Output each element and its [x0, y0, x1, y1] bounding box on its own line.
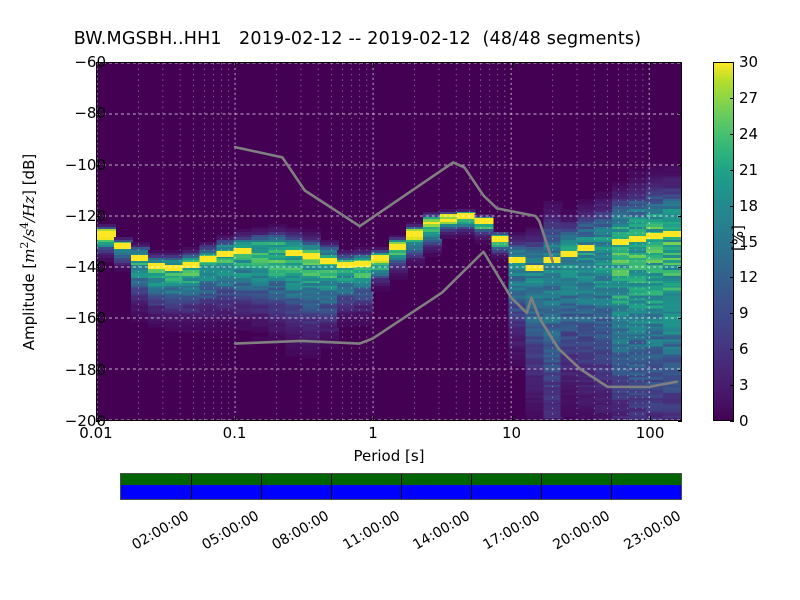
coverage-divider — [401, 474, 402, 499]
colorbar-tick-label: 6 — [739, 340, 749, 358]
time-axis-tick-label: 14:00:00 — [410, 508, 472, 553]
colorbar-tick — [730, 242, 734, 243]
y-axis-title: Amplitude [m2/s4/Hz] [dB] — [18, 0, 38, 512]
colorbar-tick — [730, 62, 734, 63]
y-axis-tick-label: −80 — [74, 104, 106, 122]
y-axis-tick — [678, 421, 682, 422]
y-axis-tick — [96, 216, 100, 217]
colorbar-tick-label: 30 — [739, 53, 758, 71]
x-axis-tick-label: 100 — [636, 424, 665, 442]
x-axis-tick — [96, 416, 97, 421]
x-axis-tick — [96, 62, 97, 67]
coverage-divider — [471, 474, 472, 499]
y-unit-num: m — [20, 248, 38, 262]
coverage-divider — [191, 474, 192, 499]
y-axis-tick — [678, 267, 682, 268]
colorbar-tick — [730, 277, 734, 278]
colorbar-tick-label: 18 — [739, 197, 758, 215]
y-axis-tick — [678, 165, 682, 166]
plot-area[interactable] — [96, 62, 682, 421]
y-axis-tick — [96, 318, 100, 319]
y-axis-tick — [678, 318, 682, 319]
colorbar-tick-label: 15 — [739, 233, 758, 251]
y-axis-title-prefix: Amplitude [ — [20, 263, 38, 351]
x-axis-tick — [235, 416, 236, 421]
colorbar-tick-label: 12 — [739, 268, 758, 286]
x-axis-tick — [235, 62, 236, 67]
x-axis-tick — [373, 416, 374, 421]
colorbar-tick — [730, 206, 734, 207]
y-axis-tick — [96, 267, 100, 268]
y-unit-hz: /Hz — [20, 196, 38, 222]
noise-model-lines — [97, 63, 681, 420]
y-axis-tick-label: −60 — [74, 53, 106, 71]
y-axis-tick — [678, 216, 682, 217]
y-axis-tick — [96, 421, 100, 422]
colorbar-tick — [730, 98, 734, 99]
coverage-divider — [611, 474, 612, 499]
x-axis-tick-label: 10 — [502, 424, 521, 442]
x-axis-tick — [512, 416, 513, 421]
ppsd-figure: BW.MGSBH..HH1 2019-02-12 -- 2019-02-12 (… — [0, 0, 800, 600]
x-axis-tick — [650, 62, 651, 67]
colorbar-tick — [730, 385, 734, 386]
x-axis-tick — [650, 416, 651, 421]
time-axis-tick-label: 02:00:00 — [129, 508, 191, 553]
y-axis-tick — [96, 165, 100, 166]
time-axis-tick-label: 17:00:00 — [481, 508, 543, 553]
colorbar-tick-label: 24 — [739, 125, 758, 143]
colorbar-tick — [730, 349, 734, 350]
x-axis-title: Period [s] — [96, 447, 682, 465]
x-axis-tick — [512, 62, 513, 67]
coverage-divider — [331, 474, 332, 499]
y-axis-tick — [678, 62, 682, 63]
time-axis-tick-label: 20:00:00 — [551, 508, 613, 553]
colorbar-tick-label: 0 — [739, 412, 749, 430]
x-axis-tick — [373, 62, 374, 67]
page-title: BW.MGSBH..HH1 2019-02-12 -- 2019-02-12 (… — [0, 29, 715, 49]
y-unit-den-exp: 4 — [18, 222, 31, 229]
y-axis-title-suffix: ] [dB] — [20, 154, 38, 196]
x-axis-tick-label: 0.01 — [79, 424, 112, 442]
time-axis-tick-label: 08:00:00 — [270, 508, 332, 553]
time-axis-tick-label: 11:00:00 — [340, 508, 402, 553]
coverage-divider — [261, 474, 262, 499]
x-axis-tick-label: 0.1 — [223, 424, 247, 442]
colorbar-tick-label: 21 — [739, 161, 758, 179]
y-axis-tick — [96, 113, 100, 114]
data-coverage-bar[interactable] — [120, 473, 682, 500]
time-axis-tick-label: 05:00:00 — [200, 508, 262, 553]
colorbar-tick — [730, 170, 734, 171]
colorbar-tick-label: 27 — [739, 89, 758, 107]
colorbar-tick — [730, 421, 734, 422]
y-axis-tick — [678, 113, 682, 114]
colorbar-tick — [730, 134, 734, 135]
y-unit-den: s — [20, 229, 38, 237]
y-axis-tick — [96, 370, 100, 371]
colorbar-tick-label: 9 — [739, 304, 749, 322]
time-axis-tick-label: 23:00:00 — [621, 508, 683, 553]
coverage-divider — [541, 474, 542, 499]
y-unit-num-exp: 2 — [18, 242, 31, 249]
colorbar-tick-label: 3 — [739, 376, 749, 394]
colorbar-tick — [730, 313, 734, 314]
x-axis-tick-label: 1 — [368, 424, 378, 442]
y-axis-tick — [678, 370, 682, 371]
